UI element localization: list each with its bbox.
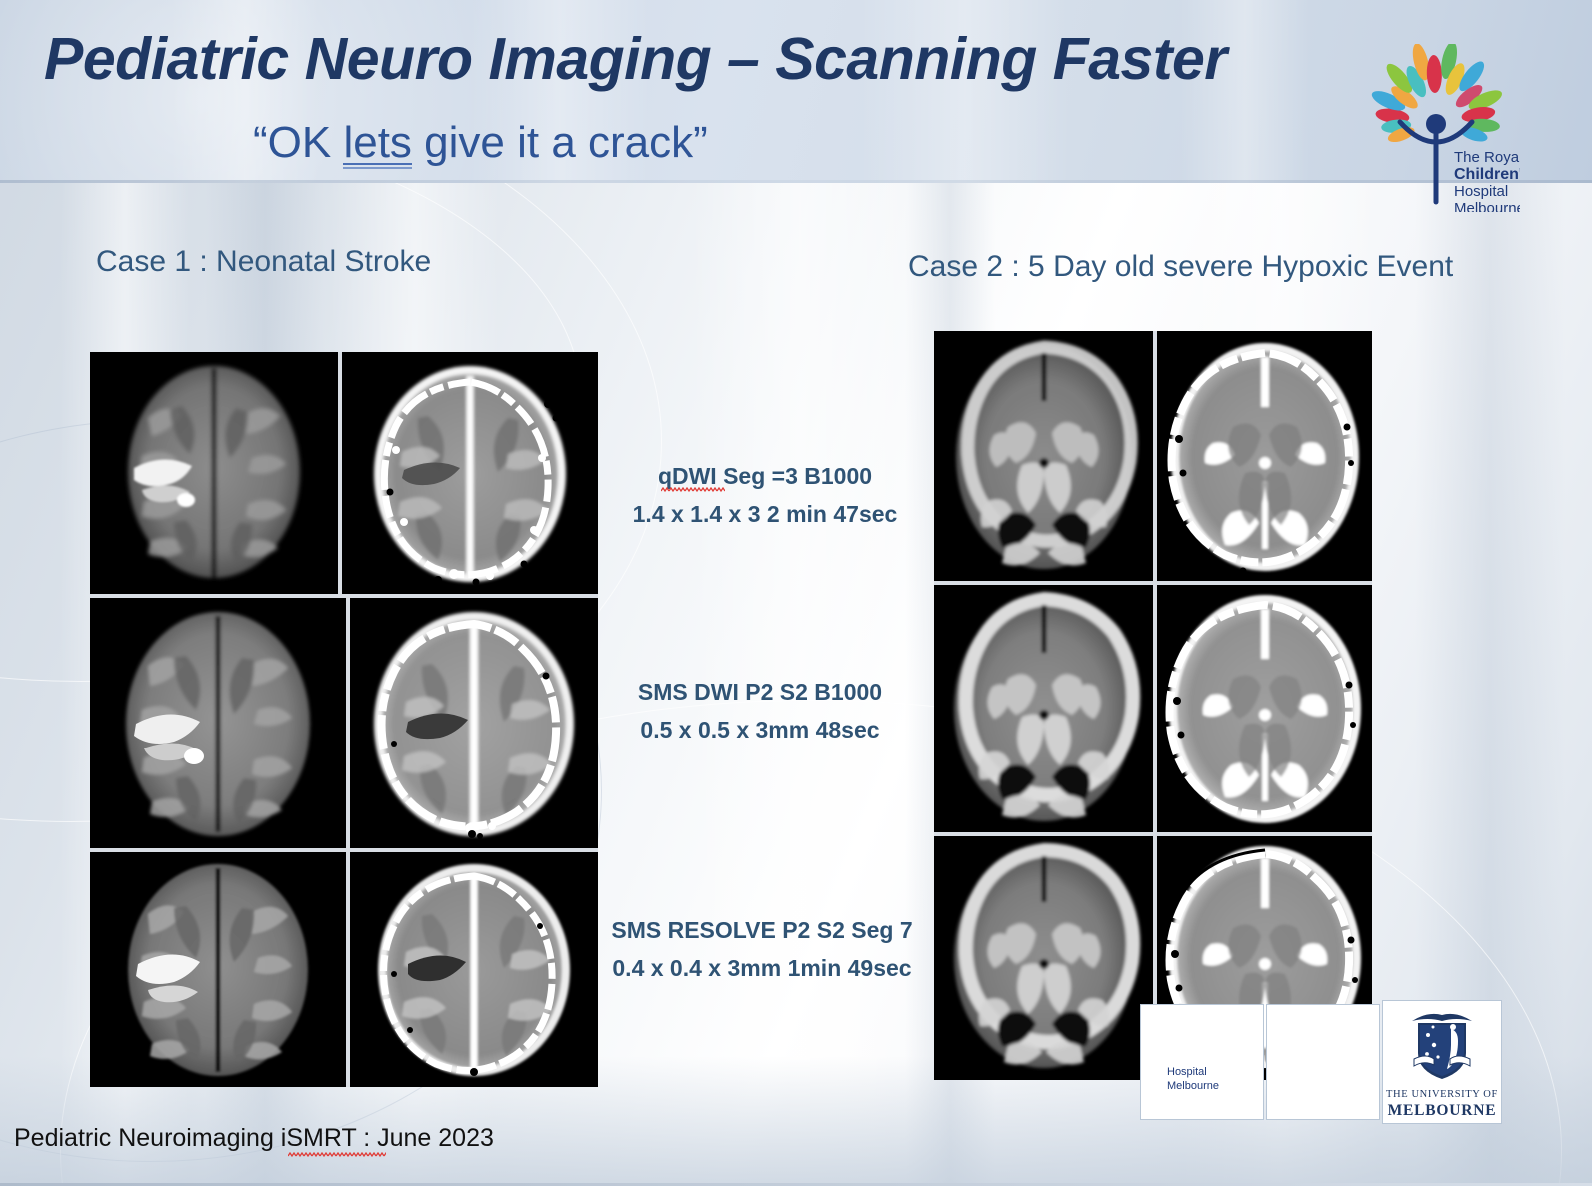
sequence-label-qdwi: qDWI Seg =3 B1000 1.4 x 1.4 x 3 2 min 47…: [600, 457, 930, 533]
case-1-dwi-slice-2: [90, 598, 346, 848]
subtitle-suffix: give it a crack”: [412, 118, 708, 167]
sequence-label-sms-dwi-line1: SMS DWI P2 S2 B1000: [595, 673, 925, 711]
svg-text:Hospital: Hospital: [1454, 183, 1508, 200]
third-ventricle: [1039, 458, 1049, 468]
case-1-dwi-slice-3: [90, 852, 346, 1087]
svg-text:Melbourne: Melbourne: [1454, 200, 1520, 212]
royal-childrens-hospital-logo-small-box: Hospital Melbourne: [1140, 1004, 1264, 1120]
case-2-adc-slice-2: [1157, 585, 1372, 832]
case-2-heading: Case 2 : 5 Day old severe Hypoxic Event: [908, 250, 1453, 284]
uom-line2: MELBOURNE: [1388, 1102, 1497, 1119]
sequence-label-qdwi-line1: qDWI Seg =3 B1000: [600, 457, 930, 495]
case-2-dwi-slice-2: [934, 585, 1153, 832]
university-of-melbourne-logo: THE UNIVERSITY OF MELBOURNE: [1382, 1000, 1502, 1124]
rch-wordmark: The Royal Children's Hospital Melbourne: [1454, 149, 1520, 212]
svg-text:The Royal: The Royal: [1454, 149, 1520, 166]
sequence-label-qdwi-line2: 1.4 x 1.4 x 3 2 min 47sec: [600, 495, 930, 533]
case-1-dwi-slice-1: [90, 352, 338, 594]
case-2-adc-slice-1: [1157, 331, 1372, 581]
slide-canvas: Pediatric Neuro Imaging – Scanning Faste…: [0, 0, 1592, 1186]
sequence-label-sms-resolve-line1: SMS RESOLVE P2 S2 Seg 7: [592, 911, 932, 949]
page-subtitle: “OK lets give it a crack”: [253, 118, 708, 168]
subtitle-grammar-word: lets: [343, 118, 411, 167]
rch-small-line3: Hospital: [1167, 1066, 1207, 1078]
case-2-image-grid: [934, 331, 1372, 1080]
sequence-label-sms-resolve: SMS RESOLVE P2 S2 Seg 7 0.4 x 0.4 x 3mm …: [592, 911, 932, 987]
case-1-image-grid: [90, 352, 598, 1087]
case-1-adc-slice-1: [342, 352, 598, 594]
sequence-label-sms-dwi-line2: 0.5 x 0.5 x 3mm 48sec: [595, 711, 925, 749]
case-1-adc-slice-3: [350, 852, 598, 1087]
subtitle-prefix: “OK: [253, 118, 343, 167]
case-1-heading: Case 1 : Neonatal Stroke: [96, 245, 431, 279]
spellcheck-underline-qdwi: [661, 487, 725, 493]
royal-childrens-hospital-logo: The Royal Children's Hospital Melbourne: [1352, 44, 1520, 212]
page-title: Pediatric Neuro Imaging – Scanning Faste…: [44, 25, 1227, 93]
case-1-adc-slice-2: [350, 598, 598, 848]
case-2-dwi-slice-3: [934, 836, 1153, 1080]
case-2-dwi-slice-1: [934, 331, 1153, 581]
logo-placeholder-box: [1266, 1004, 1380, 1120]
rch-small-line4: Melbourne: [1167, 1080, 1219, 1092]
sequence-label-sms-resolve-line2: 0.4 x 0.4 x 3mm 1min 49sec: [592, 949, 932, 987]
svg-text:Children's: Children's: [1454, 166, 1520, 183]
sequence-label-sms-dwi: SMS DWI P2 S2 B1000 0.5 x 0.5 x 3mm 48se…: [595, 673, 925, 749]
footer-text: Pediatric Neuroimaging iSMRT : June 2023: [14, 1124, 494, 1153]
uom-line1: THE UNIVERSITY OF: [1386, 1089, 1498, 1100]
spellcheck-underline-ismrt: [288, 1152, 386, 1158]
